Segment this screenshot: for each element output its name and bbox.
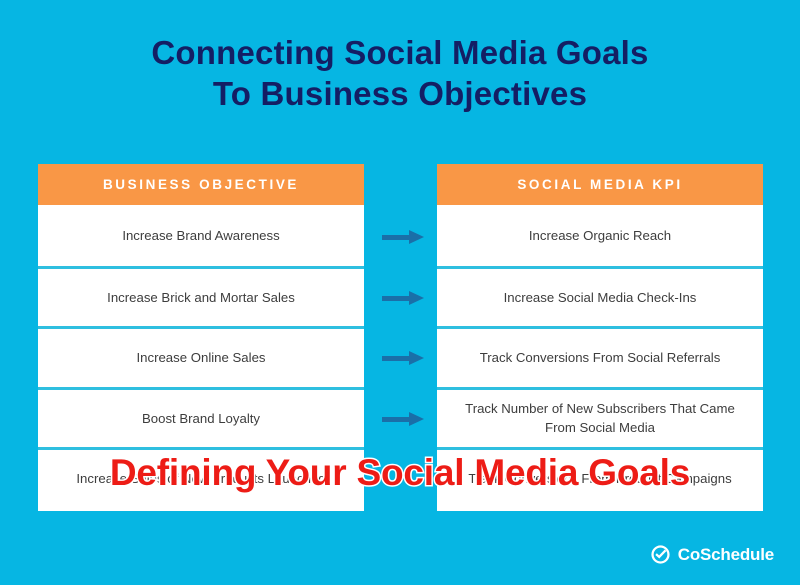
business-objective-header: BUSINESS OBJECTIVE	[38, 164, 364, 205]
arrow-head	[409, 412, 424, 426]
arrow-right-icon	[382, 351, 424, 365]
table-row: Track Number of New Subscribers That Cam…	[437, 387, 763, 448]
coschedule-wordmark: CoSchedule	[678, 544, 774, 565]
table-row: Increase Brand Awareness	[38, 205, 364, 266]
arrow-right-icon	[382, 412, 424, 426]
social-media-kpi-header: SOCIAL MEDIA KPI	[437, 164, 763, 205]
arrow-head	[409, 230, 424, 244]
overlay-headline: Defining Your Social Media Goals	[0, 452, 800, 494]
table-row: Track Conversions From Social Referrals	[437, 326, 763, 387]
table-row: Increase Online Sales	[38, 326, 364, 387]
arrow-head	[409, 351, 424, 365]
table-row: Increase Social Media Check-Ins	[437, 266, 763, 327]
check-circle-icon	[650, 544, 671, 565]
coschedule-logo[interactable]: CoSchedule	[650, 544, 774, 565]
page-title: Connecting Social Media Goals To Busines…	[0, 32, 800, 114]
table-row: Increase Organic Reach	[437, 205, 763, 266]
arrow-shaft	[382, 356, 412, 361]
table-row: Boost Brand Loyalty	[38, 387, 364, 448]
arrow-shaft	[382, 417, 412, 422]
page-title-line-2: To Business Objectives	[0, 73, 800, 114]
arrow-right-icon	[382, 291, 424, 305]
arrow-right-icon	[382, 230, 424, 244]
page-title-line-1: Connecting Social Media Goals	[0, 32, 800, 73]
table-row: Increase Brick and Mortar Sales	[38, 266, 364, 327]
arrow-head	[409, 291, 424, 305]
arrow-shaft	[382, 296, 412, 301]
arrow-shaft	[382, 235, 412, 240]
